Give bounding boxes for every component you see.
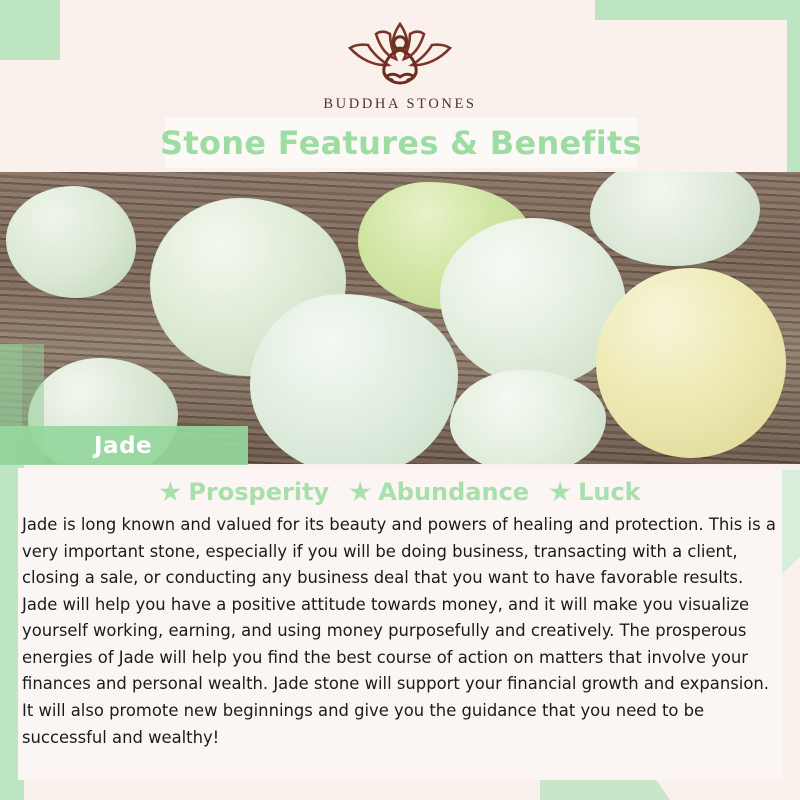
benefit-item: Prosperity bbox=[159, 478, 329, 506]
benefit-item: Luck bbox=[549, 478, 641, 506]
benefit-label: Prosperity bbox=[188, 478, 329, 506]
star-icon bbox=[549, 481, 571, 503]
benefit-item: Abundance bbox=[349, 478, 529, 506]
stone-name-label: Jade bbox=[94, 433, 152, 459]
stone-description: Jade is long known and valued for its be… bbox=[18, 512, 782, 751]
jade-stone bbox=[250, 294, 458, 464]
brand-logo: BUDDHA STONES bbox=[0, 18, 800, 113]
jade-stone bbox=[450, 370, 606, 464]
page-title-strip: Stone Features & Benefits bbox=[165, 118, 637, 168]
benefit-label: Abundance bbox=[378, 478, 529, 506]
star-icon bbox=[349, 481, 371, 503]
jade-stone bbox=[596, 268, 786, 458]
stone-photo bbox=[0, 172, 800, 464]
stone-name-bar: Jade bbox=[0, 426, 248, 465]
lotus-meditation-icon bbox=[324, 18, 476, 92]
star-icon bbox=[159, 481, 181, 503]
decoration-top-right-band bbox=[595, 0, 800, 20]
page-title: Stone Features & Benefits bbox=[160, 124, 642, 162]
benefits-row: Prosperity Abundance Luck bbox=[18, 468, 782, 506]
content-panel: Prosperity Abundance Luck Jade is long k… bbox=[18, 468, 782, 780]
benefit-label: Luck bbox=[578, 478, 641, 506]
brand-name: BUDDHA STONES bbox=[0, 96, 800, 113]
infographic-page: BUDDHA STONES Stone Features & Benefits … bbox=[0, 0, 800, 800]
